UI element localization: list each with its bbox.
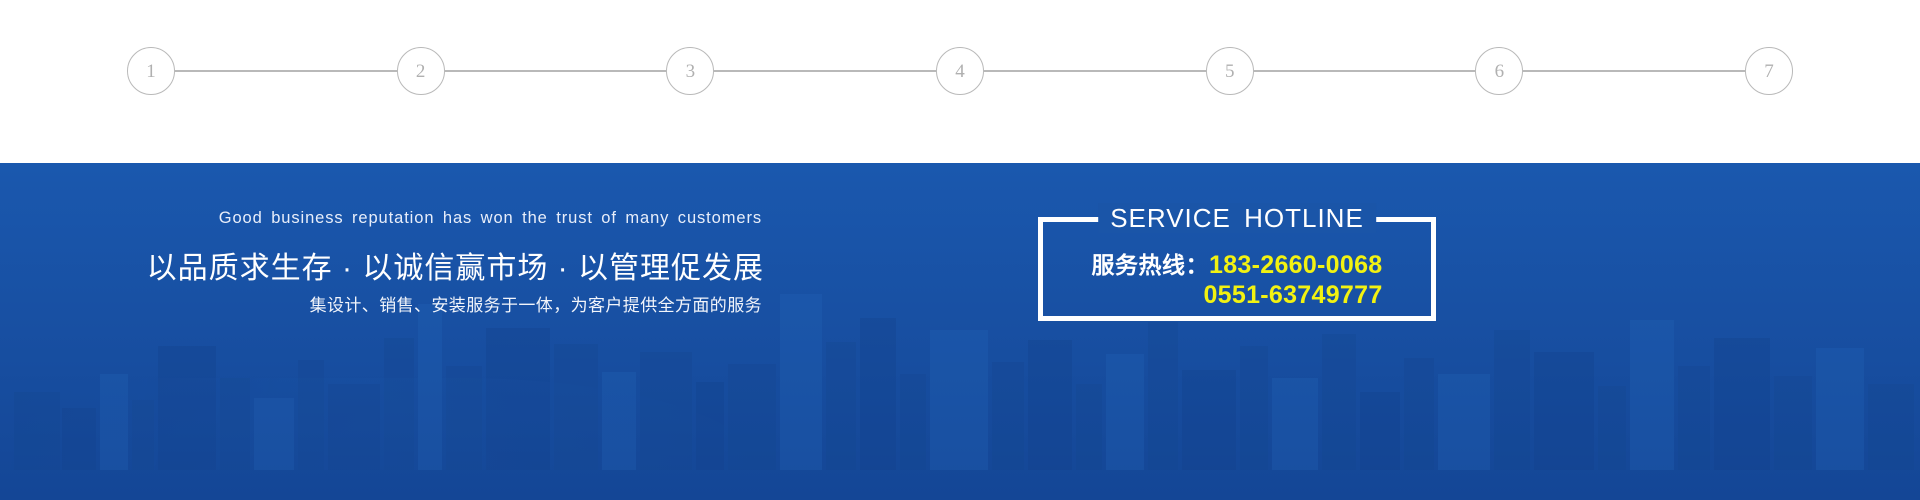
- hotline-row-primary: 服务热线：183-2660-0068: [1038, 246, 1436, 280]
- step-connector-6-7: [1523, 70, 1745, 72]
- step-node-4[interactable]: 4: [936, 47, 984, 95]
- step-node-5[interactable]: 5: [1206, 47, 1254, 95]
- page-root: 1 2 3 4 5 6 7: [0, 0, 1920, 500]
- step-node-6[interactable]: 6: [1475, 47, 1523, 95]
- slogan-block: Good business reputation has won the tru…: [0, 163, 960, 500]
- tagline-headline: 以品质求生存 · 以诚信赢市场 · 以管理促发展: [0, 243, 764, 287]
- hotline-title: SERVICE HOTLINE: [1098, 203, 1376, 233]
- step-label: 4: [955, 62, 965, 81]
- service-hotline-box: SERVICE HOTLINE 服务热线：183-2660-0068 0551-…: [1038, 203, 1436, 321]
- step-label: 2: [416, 62, 426, 81]
- step-node-1[interactable]: 1: [127, 47, 175, 95]
- hotline-number-secondary[interactable]: 0551-63749777: [1203, 281, 1382, 309]
- promo-banner: Good business reputation has won the tru…: [0, 163, 1920, 500]
- step-connector-4-5: [984, 70, 1206, 72]
- step-list: 1 2 3 4 5 6 7: [127, 47, 1793, 95]
- step-progress-bar: 1 2 3 4 5 6 7: [0, 0, 1920, 163]
- step-connector-3-4: [714, 70, 936, 72]
- step-label: 7: [1764, 62, 1774, 81]
- tagline-subtitle: 集设计、销售、安装服务于一体，为客户提供全方面的服务: [0, 291, 762, 316]
- step-connector-5-6: [1254, 70, 1476, 72]
- step-connector-2-3: [445, 70, 667, 72]
- step-label: 1: [146, 62, 156, 81]
- step-node-2[interactable]: 2: [397, 47, 445, 95]
- hotline-number-primary[interactable]: 183-2660-0068: [1209, 251, 1383, 279]
- step-node-3[interactable]: 3: [666, 47, 714, 95]
- step-label: 3: [686, 62, 696, 81]
- hotline-label: 服务热线：: [1092, 252, 1210, 278]
- step-label: 6: [1495, 62, 1505, 81]
- step-label: 5: [1225, 62, 1235, 81]
- step-connector-1-2: [175, 70, 397, 72]
- hotline-row-secondary: 0551-63749777: [1038, 281, 1436, 310]
- step-node-7[interactable]: 7: [1745, 47, 1793, 95]
- tagline-english: Good business reputation has won the tru…: [0, 209, 762, 228]
